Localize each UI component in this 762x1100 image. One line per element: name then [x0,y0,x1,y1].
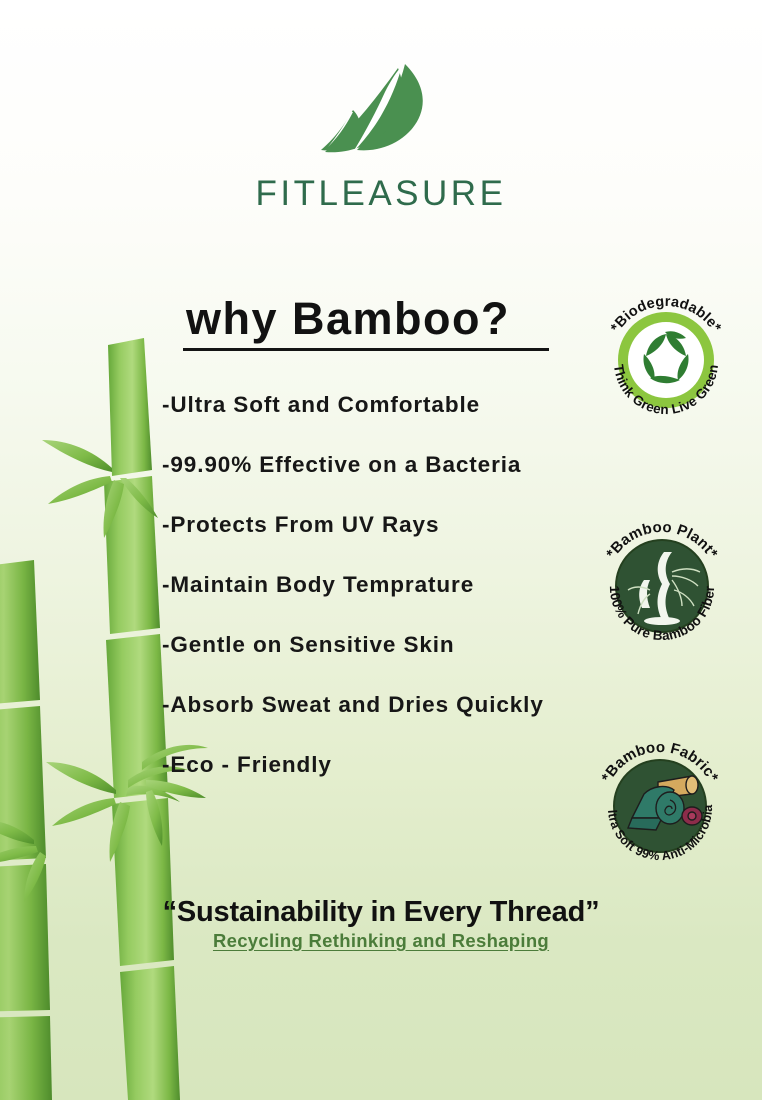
list-item: -Eco - Friendly [162,752,642,812]
tagline-sub: Recycling Rethinking and Reshaping [0,930,762,952]
swoosh-leaf-logo-icon [301,62,461,170]
brand-logo: FITLEASURE [0,62,762,211]
bamboo-leaf-cluster [0,820,46,902]
bamboo-plant-badge: *Bamboo Plant* 100% Pure Bamboo Fiber [590,512,734,656]
list-item: -Absorb Sweat and Dries Quickly [162,692,642,752]
list-item: -Ultra Soft and Comfortable [162,392,642,452]
bamboo-leaf-cluster [42,440,158,538]
bamboo-fabric-badge: *Bamboo Fabric* Ultra Soft 99% Anti-Micr… [588,732,732,876]
list-item: -99.90% Effective on a Bacteria [162,452,642,512]
list-item: -Protects From UV Rays [162,512,642,572]
tagline: “Sustainability in Every Thread” Recycli… [0,897,762,952]
page-title: why Bamboo? [186,296,510,341]
brand-wordmark: FITLEASURE [0,176,762,211]
tagline-main: “Sustainability in Every Thread” [0,897,762,929]
list-item: -Gentle on Sensitive Skin [162,632,642,692]
title-underline [183,348,549,351]
benefits-list: -Ultra Soft and Comfortable -99.90% Effe… [162,392,642,812]
poster-canvas: FITLEASURE why Bamboo? -Ultra Soft and C… [0,0,762,1100]
list-item: -Maintain Body Temprature [162,572,642,632]
bamboo-cane-left [0,560,52,1100]
biodegradable-badge: *Biodegradable* Think Green Live Green [594,286,738,430]
